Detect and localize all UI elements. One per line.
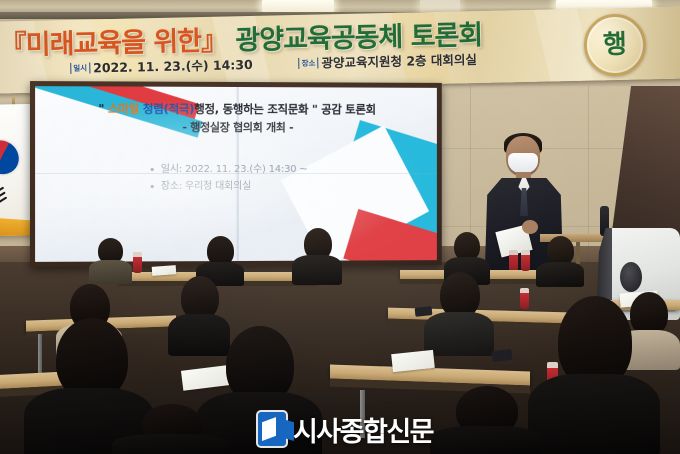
water-bottle (509, 250, 518, 272)
audience-member (536, 236, 584, 286)
paper-sheet (152, 265, 177, 276)
seal-character: 행 (603, 32, 627, 59)
newspaper-watermark: 시사종합신문 (258, 409, 433, 449)
banner-title: 『미래교육을 위한』 광양교육공동체 토론회 (0, 11, 560, 62)
slide-bullet-item: 일시: 2022. 11. 23.(수) 14:30 ~ (149, 161, 308, 178)
water-bottle (521, 250, 530, 271)
audience-member (424, 272, 494, 354)
slide-title-seg1: 스마일 (108, 102, 139, 116)
banner-place-value: 광양교육지원청 2층 대회의실 (321, 52, 477, 70)
conference-photo: 『미래교육을 위한』 광양교육공동체 토론회 일시2022. 11. 23.(수… (0, 0, 680, 454)
banner-title-part1: 『미래교육을 위한』 (0, 26, 227, 62)
water-bottle (133, 252, 142, 273)
audience-body (536, 262, 584, 287)
podium-speaker-grille (620, 262, 642, 292)
slide-title-seg3: 행정, 동행하는 조직문화 (194, 102, 308, 116)
audience-body (112, 434, 230, 454)
slide-title: " 스마일 청렴(적극)행정, 동행하는 조직문화 " 공감 토론회 (35, 100, 437, 117)
banner-place-tag: 장소 (299, 58, 319, 69)
audience-member (292, 228, 342, 284)
ceiling-light-panel (262, 0, 334, 12)
audience-member (88, 238, 132, 282)
slide-bullet-item: 장소: 우리청 대회의실 (149, 178, 308, 195)
banner-date-tag: 일시 (70, 62, 90, 73)
slide-quote-close: " (308, 102, 317, 116)
slide-subtitle: - 행정실장 협의회 개최 - (35, 118, 437, 135)
slide-quote-open: " (98, 101, 108, 115)
audience-body (89, 260, 132, 284)
slide-title-seg4: 공감 토론회 (321, 102, 375, 116)
ceiling-light-panel (420, 0, 460, 12)
slide-title-seg2: 청렴(적극) (143, 102, 194, 116)
watermark-text: 시사종합신문 (293, 410, 433, 449)
presenter-hand (522, 220, 538, 234)
banner-date-value: 2022. 11. 23.(수) 14:30 (93, 57, 253, 75)
audience-member (430, 386, 540, 454)
open-book-logo-icon (258, 412, 286, 446)
audience-body (528, 374, 660, 454)
audience-member (528, 296, 660, 454)
audience-body (430, 426, 540, 454)
audience-body (424, 312, 494, 356)
presenter-face-mask (508, 153, 538, 173)
banner-title-part2: 광양교육공동체 토론회 (235, 20, 482, 56)
trigram-bar (0, 196, 8, 206)
taeguk-circle (0, 134, 25, 180)
slide-bullet-list: 일시: 2022. 11. 23.(수) 14:30 ~ 장소: 우리청 대회의… (149, 161, 308, 195)
audience-member (112, 404, 230, 454)
banner-seal-emblem: 행 (583, 13, 646, 76)
banner-subtitle: 일시2022. 11. 23.(수) 14:30장소광양교육지원청 2층 대회의… (70, 47, 590, 77)
audience-body (292, 255, 342, 285)
